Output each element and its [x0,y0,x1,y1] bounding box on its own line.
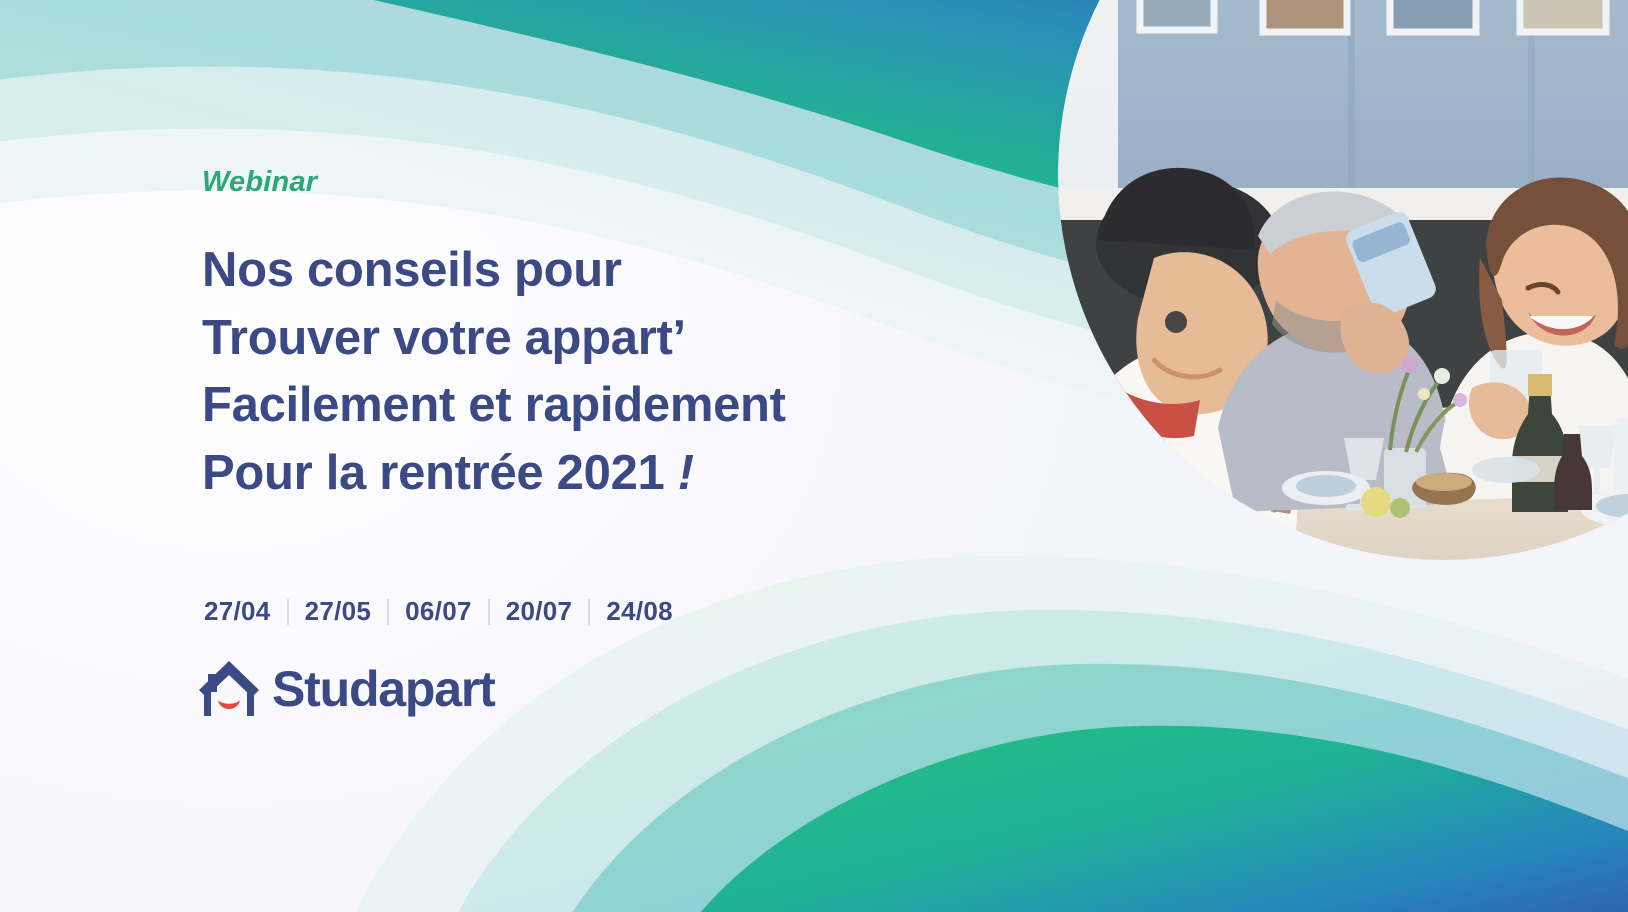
headline-line-1: Nos conseils pour [202,237,962,305]
headline-line-4: Pour la rentrée 2021 ! [202,440,962,508]
session-date[interactable]: 20/07 [504,596,575,627]
session-date[interactable]: 06/07 [403,596,474,627]
eyebrow-webinar-label: Webinar [202,168,962,197]
date-separator [488,599,490,625]
webinar-banner: Webinar Nos conseils pour Trouver votre … [0,0,1628,912]
brand-name: Studapart [272,664,495,714]
session-date[interactable]: 27/05 [303,596,374,627]
date-separator [287,599,289,625]
date-separator [387,599,389,625]
headline-line-4-text: Pour la rentrée 2021 [202,446,678,500]
headline-line-3: Facilement et rapidement [202,372,962,440]
studapart-logo[interactable]: Studapart [196,658,495,720]
session-date[interactable]: 27/04 [202,596,273,627]
session-dates-list: 27/04 27/05 06/07 20/07 24/08 [202,596,675,627]
house-icon [196,658,262,720]
page-title: Nos conseils pour Trouver votre appart’ … [202,237,962,507]
text-content: Webinar Nos conseils pour Trouver votre … [202,168,962,507]
headline-line-2: Trouver votre appart’ [202,305,962,373]
headline-exclamation: ! [678,446,694,500]
session-date[interactable]: 24/08 [604,596,675,627]
date-separator [588,599,590,625]
